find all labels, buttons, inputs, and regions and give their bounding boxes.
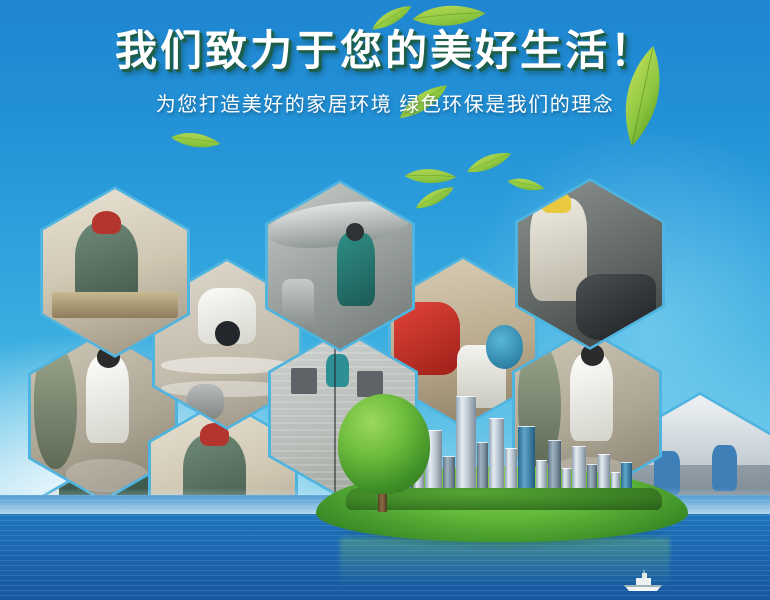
photo-detail — [291, 368, 317, 395]
photo-detail — [486, 325, 523, 368]
page-title: 我们致力于您的美好生活！ — [0, 28, 770, 74]
eco-city-island — [300, 400, 700, 600]
promo-banner: 我们致力于您的美好生活！ 为您打造美好的家居环境 绿色环保是我们的理念 — [0, 0, 770, 600]
photo-detail — [337, 233, 374, 306]
photo-detail — [326, 354, 349, 387]
photo-detail — [576, 274, 657, 340]
photo-detail — [215, 321, 239, 346]
boat-icon — [620, 570, 666, 592]
headline-block: 我们致力于您的美好生活！ 为您打造美好的家居环境 绿色环保是我们的理念 — [0, 28, 770, 117]
photo-detail — [712, 445, 738, 491]
hex-photo — [518, 181, 662, 347]
photo-detail — [92, 211, 121, 234]
photo-scene-dark — [518, 181, 662, 347]
tree-crown-icon — [338, 394, 430, 494]
photo-detail — [86, 356, 129, 442]
photo-detail — [52, 292, 179, 319]
photo-detail — [34, 343, 77, 469]
page-subtitle: 为您打造美好的家居环境 绿色环保是我们的理念 — [0, 88, 770, 117]
